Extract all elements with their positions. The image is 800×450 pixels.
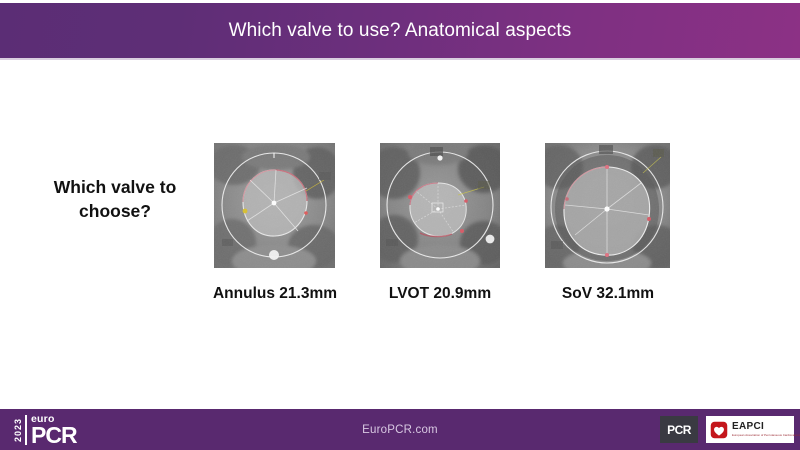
footer-badges: PCR EAPCI European Association of Percut… (660, 416, 794, 443)
pcr-badge-label: PCR (667, 423, 691, 437)
ct-scan-lvot-graphic (380, 143, 500, 268)
eapci-badge[interactable]: EAPCI European Association of Percutaneo… (706, 416, 794, 443)
ct-image-lvot (380, 143, 500, 268)
ct-panel-sov[interactable] (545, 143, 670, 268)
logo-pcr-text: PCR (31, 425, 77, 446)
header-divider (0, 58, 800, 60)
ct-panel-group: Annulus 21.3mm (0, 0, 800, 450)
slide-footer: 2023 euro PCR EuroPCR.com PCR EAPCI Euro… (0, 409, 800, 450)
ct-image-sov (545, 143, 670, 268)
ct-panel-lvot[interactable] (380, 143, 500, 268)
eapci-text-block: EAPCI European Association of Percutaneo… (732, 422, 800, 436)
europcr-logo[interactable]: 2023 euro PCR (14, 415, 77, 445)
eapci-subtitle: European Association of Percutaneous Car… (732, 434, 800, 437)
caption-annulus: Annulus 21.3mm (184, 286, 366, 302)
ct-image-annulus (214, 143, 335, 268)
logo-wordmark: euro PCR (25, 415, 77, 445)
question-line-2: choose? (22, 200, 208, 224)
question-text: Which valve to choose? (22, 176, 208, 223)
question-line-1: Which valve to (22, 176, 208, 200)
footer-url[interactable]: EuroPCR.com (362, 424, 438, 436)
caption-sov: SoV 32.1mm (518, 286, 698, 302)
pcr-badge[interactable]: PCR (660, 416, 698, 443)
eapci-name: EAPCI (732, 422, 800, 432)
ct-scan-sov-graphic (545, 143, 670, 268)
ct-scan-annulus-graphic (214, 143, 335, 268)
ct-panel-annulus[interactable] (214, 143, 335, 268)
slide-header: Which valve to use? Anatomical aspects (0, 3, 800, 58)
page-title: Which valve to use? Anatomical aspects (229, 21, 572, 40)
heart-icon (710, 421, 728, 439)
caption-lvot: LVOT 20.9mm (350, 286, 530, 302)
logo-year: 2023 (14, 418, 23, 442)
